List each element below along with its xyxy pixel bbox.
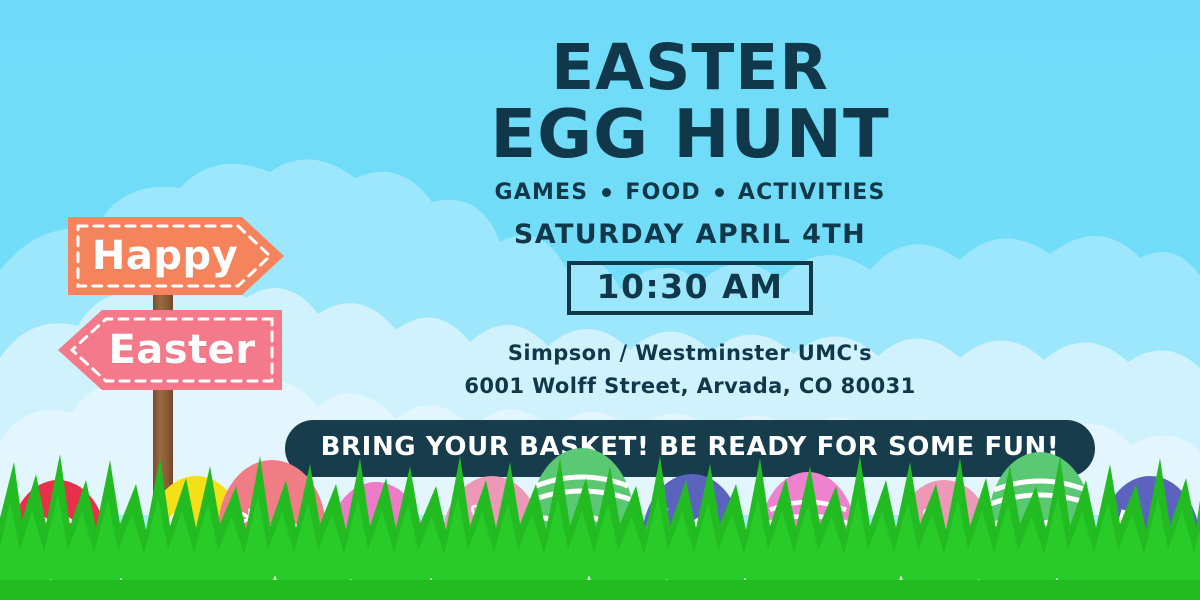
- poster-title: EASTER EGG HUNT: [490, 38, 889, 167]
- bullet-dot-icon: [715, 188, 724, 197]
- event-time: 10:30 AM: [597, 267, 784, 306]
- sign-happy: Happy: [66, 213, 286, 299]
- tagline-item-food: FOOD: [625, 180, 701, 205]
- tagline-item-games: GAMES: [494, 180, 588, 205]
- sign-easter-label: Easter: [54, 305, 284, 395]
- ground: [0, 400, 1200, 600]
- tagline-item-activities: ACTIVITIES: [738, 180, 886, 205]
- event-address: 6001 Wolff Street, Arvada, CO 80031: [464, 374, 915, 398]
- sign-happy-label: Happy: [66, 213, 286, 299]
- event-venue: Simpson / Westminster UMC's: [508, 341, 872, 365]
- tagline: GAMES FOOD ACTIVITIES: [494, 180, 885, 205]
- grass: [0, 440, 1200, 600]
- title-line-1: EASTER: [551, 31, 829, 104]
- event-date: SATURDAY APRIL 4TH: [514, 219, 866, 250]
- easter-egg-hunt-poster: Happy Easter EASTER EGG HUNT GAMES FOOD …: [0, 0, 1200, 600]
- title-line-2: EGG HUNT: [490, 102, 889, 166]
- event-time-box: 10:30 AM: [567, 261, 814, 315]
- bullet-dot-icon: [602, 188, 611, 197]
- sign-easter: Easter: [54, 305, 284, 395]
